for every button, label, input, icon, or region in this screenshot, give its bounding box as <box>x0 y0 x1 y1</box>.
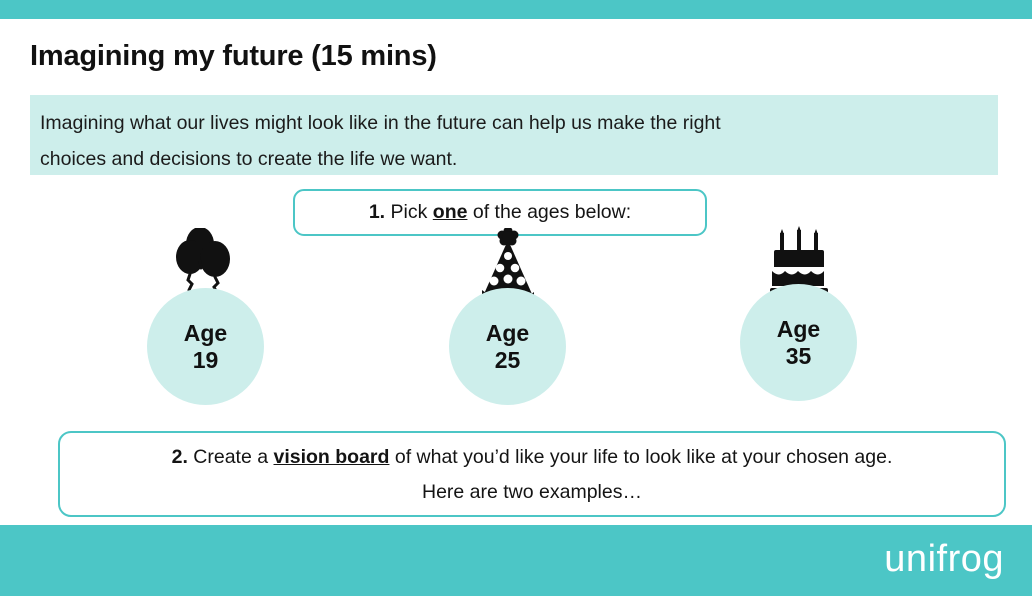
step-1-text-before: Pick <box>385 201 433 223</box>
age-label-25: Age <box>486 320 529 347</box>
step-1-number: 1. <box>369 201 385 223</box>
step-1-text-after: of the ages below: <box>467 201 631 223</box>
age-circle-25[interactable]: Age 25 <box>449 288 566 405</box>
age-label-19: Age <box>184 320 227 347</box>
step-1-emphasis: one <box>433 201 468 223</box>
step-1-text: 1. Pick one of the ages below: <box>369 201 631 224</box>
slide-canvas: Imagining my future (15 mins) Imagining … <box>0 0 1032 596</box>
intro-line-2: choices and decisions to create the life… <box>40 141 988 177</box>
intro-panel: Imagining what our lives might look like… <box>30 95 998 175</box>
age-number-35: 35 <box>786 343 812 370</box>
age-label-35: Age <box>777 316 820 343</box>
page-title: Imagining my future (15 mins) <box>30 40 437 73</box>
step-2-instruction-box: 2. Create a vision board of what you’d l… <box>58 431 1006 517</box>
accent-bar-top <box>0 0 1032 19</box>
unifrog-logo: unifrog <box>884 535 1004 583</box>
age-number-25: 25 <box>495 347 521 374</box>
step-2-number: 2. <box>172 446 188 468</box>
step-2-text-before: Create a <box>188 446 274 468</box>
intro-line-1: Imagining what our lives might look like… <box>40 105 988 141</box>
age-number-19: 19 <box>193 347 219 374</box>
step-2-emphasis: vision board <box>274 446 390 468</box>
age-circle-19[interactable]: Age 19 <box>147 288 264 405</box>
step-2-text-after: of what you’d like your life to look lik… <box>389 446 892 468</box>
step-2-line-2: Here are two examples… <box>422 475 642 510</box>
age-circle-35[interactable]: Age 35 <box>740 284 857 401</box>
footer-bar <box>0 525 1032 596</box>
step-2-line-1: 2. Create a vision board of what you’d l… <box>172 440 893 475</box>
